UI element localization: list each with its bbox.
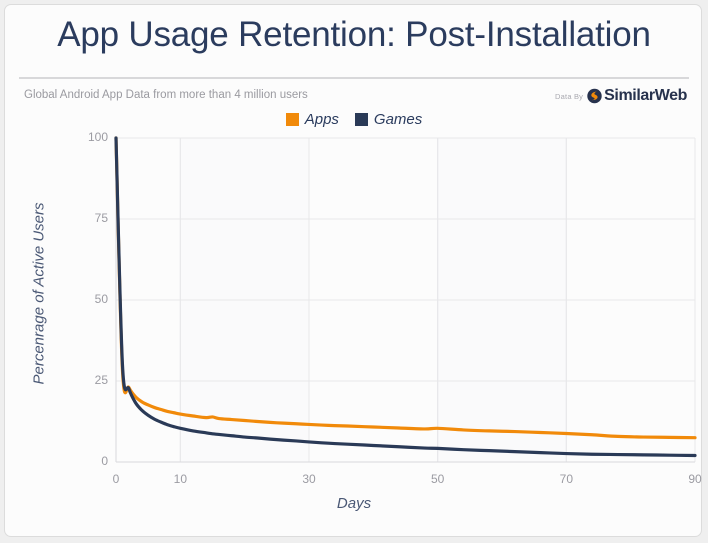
y-tick-label: 100	[74, 130, 108, 144]
x-tick-label: 90	[675, 472, 708, 486]
y-tick-label: 50	[74, 292, 108, 306]
x-axis-title: Days	[5, 495, 703, 512]
y-tick-label: 75	[74, 211, 108, 225]
x-tick-label: 10	[160, 472, 200, 486]
x-tick-label: 50	[418, 472, 458, 486]
x-tick-label: 70	[546, 472, 586, 486]
y-axis-title: Percenrage of Active Users	[31, 194, 48, 394]
x-tick-label: 0	[96, 472, 136, 486]
chart-plot-area: Percenrage of Active Users Days 02550751…	[5, 5, 703, 538]
x-tick-label: 30	[289, 472, 329, 486]
chart-card: App Usage Retention: Post-Installation G…	[4, 4, 702, 537]
y-tick-label: 0	[74, 454, 108, 468]
retention-line-chart	[5, 5, 703, 538]
y-tick-label: 25	[74, 373, 108, 387]
